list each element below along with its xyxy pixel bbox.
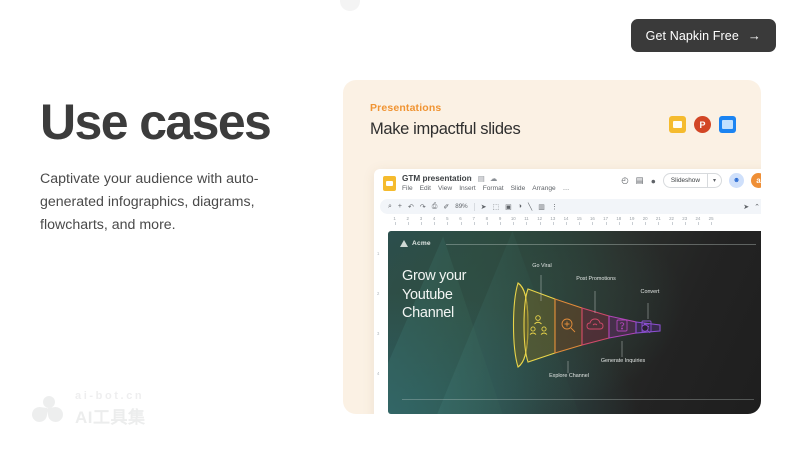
- ruler-tick: 4: [428, 216, 441, 221]
- chevron-down-icon[interactable]: ▾: [708, 177, 721, 184]
- ruler-tick: 23: [678, 216, 691, 221]
- ruler-tick: 7: [467, 216, 480, 221]
- slide-title-line-1: Grow your: [402, 267, 466, 286]
- select-tool-icon[interactable]: ➤: [481, 203, 487, 211]
- formatting-toolbar: ⌕ + ↶ ↷ ⎙ ✐ 89% ➤ ⬚ ▣ ◑ ╲ ▥ ⋮ ➤ ⌃: [380, 199, 761, 214]
- slide-brand: Acme: [400, 240, 431, 247]
- ruler-tick: 22: [665, 216, 678, 221]
- page-title: Use cases: [40, 96, 270, 149]
- cursor-mode-icon[interactable]: ➤: [743, 203, 749, 211]
- slide-content[interactable]: Acme Grow your Youtube Channel: [388, 231, 761, 414]
- ruler-tick: 8: [480, 216, 493, 221]
- slide-title-line-2: Youtube: [402, 286, 466, 305]
- version-history-icon[interactable]: ◴: [621, 175, 628, 186]
- vruler-tick: 2: [377, 291, 379, 296]
- new-slide-icon[interactable]: +: [398, 203, 402, 210]
- funnel-label-explore-channel: Explore Channel: [544, 373, 594, 380]
- image-icon[interactable]: ▣: [505, 203, 512, 211]
- watermark: ai-bot.cn AI工具集: [32, 390, 146, 428]
- share-button[interactable]: ☻: [729, 173, 744, 188]
- toolbar-divider: [474, 203, 475, 211]
- vertical-ruler[interactable]: 1234: [374, 225, 388, 414]
- keynote-icon: [719, 116, 736, 133]
- powerpoint-icon: P: [694, 116, 711, 133]
- funnel-label-go-viral: Go Viral: [514, 263, 570, 270]
- collapse-toolbar-icon[interactable]: ⌃: [754, 203, 760, 211]
- brand-divider: [446, 244, 756, 245]
- slides-doc-icon: [383, 176, 396, 191]
- undo-icon[interactable]: ↶: [408, 203, 414, 211]
- textbox-icon[interactable]: ⬚: [493, 203, 500, 211]
- menu-item-format[interactable]: Format: [483, 185, 504, 192]
- avatar[interactable]: a: [751, 173, 761, 188]
- more-options-icon[interactable]: ⋮: [551, 203, 558, 211]
- menu-item-edit[interactable]: Edit: [420, 185, 431, 192]
- funnel-segment-1: [524, 289, 555, 362]
- menu-item-arrange[interactable]: Arrange: [532, 185, 555, 192]
- ruler-tick: 5: [441, 216, 454, 221]
- ruler-tick: 15: [573, 216, 586, 221]
- page-root: Get Napkin Free → Use cases Captivate yo…: [0, 0, 800, 450]
- ruler-tick: 2: [401, 216, 414, 221]
- search-icon[interactable]: ⌕: [388, 203, 392, 211]
- slideshow-label: Slideshow: [664, 177, 707, 184]
- shape-icon[interactable]: ◑: [518, 203, 522, 210]
- page-subcopy: Captivate your audience with auto-genera…: [40, 168, 285, 237]
- paint-format-icon[interactable]: ✐: [443, 203, 449, 211]
- slideshow-button[interactable]: Slideshow ▾: [663, 173, 722, 188]
- star-icon[interactable]: ☆: [466, 174, 473, 183]
- horizontal-ruler[interactable]: 1234567891011121314151617181920212223242…: [374, 215, 761, 225]
- print-icon[interactable]: ⎙: [432, 203, 438, 211]
- ruler-tick: 11: [520, 216, 533, 221]
- comment-add-icon[interactable]: ▥: [538, 203, 545, 211]
- ruler-tick: 6: [454, 216, 467, 221]
- ruler-tick: 25: [705, 216, 718, 221]
- vruler-tick: 3: [377, 331, 379, 336]
- slide-title-line-3: Channel: [402, 304, 466, 323]
- video-call-icon[interactable]: ●: [651, 176, 656, 186]
- slide-title: Grow your Youtube Channel: [402, 267, 466, 323]
- cloud-saved-icon: ☁: [490, 174, 498, 183]
- title-action-icons: ☆ ▤ ☁: [466, 174, 497, 183]
- ruler-tick: 19: [625, 216, 638, 221]
- ruler-tick: 20: [639, 216, 652, 221]
- ruler-tick: 16: [586, 216, 599, 221]
- use-case-card[interactable]: Presentations Make impactful slides P GT…: [343, 80, 761, 414]
- watermark-name: AI工具集: [75, 403, 146, 428]
- comment-icon[interactable]: ▤: [636, 175, 644, 186]
- funnel-diagram[interactable]: Go Viral Explore Channel Post Promotions…: [508, 261, 688, 391]
- decorative-circle: [340, 0, 360, 11]
- move-folder-icon[interactable]: ▤: [478, 174, 485, 183]
- ruler-tick: 24: [691, 216, 704, 221]
- vruler-tick: 4: [377, 371, 379, 376]
- vruler-tick: 1: [377, 251, 379, 256]
- funnel-label-convert: Convert: [626, 289, 674, 296]
- ruler-tick: 12: [533, 216, 546, 221]
- ruler-tick: 14: [559, 216, 572, 221]
- slide-bottom-divider: [402, 399, 754, 400]
- slide-canvas[interactable]: Acme Grow your Youtube Channel: [388, 225, 761, 414]
- cta-label: Get Napkin Free: [646, 29, 739, 43]
- acme-triangle-icon: [400, 240, 408, 247]
- brand-name: Acme: [412, 240, 431, 247]
- app-icon-group: P: [669, 116, 736, 133]
- ruler-tick: 1: [388, 216, 401, 221]
- funnel-label-post-promotions: Post Promotions: [570, 276, 622, 283]
- ruler-tick: 17: [599, 216, 612, 221]
- slides-topbar: GTM presentation ☆ ▤ ☁ File Edit View In…: [374, 169, 761, 198]
- ruler-tick: 13: [546, 216, 559, 221]
- ruler-tick: 10: [507, 216, 520, 221]
- card-eyebrow: Presentations: [370, 102, 741, 114]
- slides-app-window: GTM presentation ☆ ▤ ☁ File Edit View In…: [374, 169, 761, 414]
- funnel-segment-2: [555, 299, 582, 353]
- menu-item-view[interactable]: View: [438, 185, 452, 192]
- watermark-domain: ai-bot.cn: [75, 390, 146, 402]
- topbar-right-group: ◴ ▤ ● Slideshow ▾ ☻ a: [621, 173, 761, 188]
- ruler-tick: 9: [494, 216, 507, 221]
- ruler-tick: 18: [612, 216, 625, 221]
- funnel-label-generate-inquiries: Generate Inquiries: [596, 358, 650, 365]
- menu-item-slide[interactable]: Slide: [511, 185, 526, 192]
- redo-icon[interactable]: ↷: [420, 203, 426, 211]
- menu-item-more[interactable]: …: [563, 185, 570, 192]
- watermark-logo-icon: [32, 396, 66, 422]
- ruler-tick: 3: [414, 216, 427, 221]
- menu-item-insert[interactable]: Insert: [459, 185, 476, 192]
- funnel-segment-4: [609, 316, 636, 338]
- get-napkin-free-button[interactable]: Get Napkin Free →: [631, 19, 776, 52]
- line-icon[interactable]: ╲: [528, 203, 532, 211]
- arrow-right-icon: →: [748, 29, 761, 42]
- menu-bar: File Edit View Insert Format Slide Arran…: [402, 185, 569, 192]
- ruler-tick: 21: [652, 216, 665, 221]
- google-slides-icon: [669, 116, 686, 133]
- document-title[interactable]: GTM presentation: [402, 174, 472, 183]
- zoom-level[interactable]: 89%: [455, 203, 467, 210]
- editor-body: 1234 Acme Grow your Youtube Channel: [374, 225, 761, 414]
- funnel-segment-3: [582, 308, 609, 345]
- menu-item-file[interactable]: File: [402, 185, 413, 192]
